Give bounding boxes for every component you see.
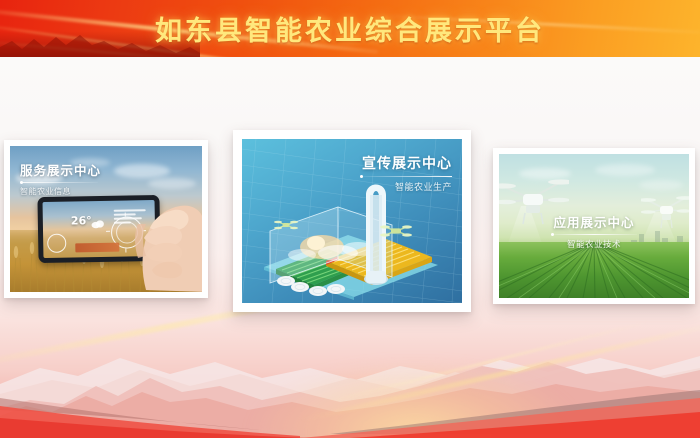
card-service-title: 服务展示中心 (20, 160, 101, 179)
card-service-display-center[interactable]: 26° (4, 140, 208, 298)
card-application-image: 应用展示中心 智能农业技术 (499, 154, 689, 298)
crop-field (499, 242, 689, 298)
poster-stage: 如东县智能农业综合展示平台 (0, 0, 700, 438)
card-promotion-label: 宣传展示中心 智能农业生产 (360, 153, 452, 193)
card-application-divider (551, 234, 637, 235)
cloud-icon (91, 219, 105, 229)
hud-temperature-value: 26° (71, 214, 92, 227)
cloud-icon (595, 164, 655, 176)
header-banner: 如东县智能农业综合展示平台 (0, 0, 700, 57)
card-service-subtitle: 智能农业信息 (20, 186, 101, 197)
page-title: 如东县智能农业综合展示平台 (0, 0, 700, 57)
card-service-divider (20, 182, 98, 183)
ribbon-right (0, 388, 700, 438)
card-application-title: 应用展示中心 (499, 212, 689, 231)
card-promotion-title: 宣传展示中心 (360, 153, 452, 173)
card-application-display-center[interactable]: 应用展示中心 智能农业技术 (493, 148, 695, 304)
card-service-image: 26° (10, 146, 202, 292)
card-promotion-subtitle: 智能农业生产 (360, 180, 452, 193)
hud-chip-bar (75, 243, 119, 253)
card-application-label: 应用展示中心 智能农业技术 (499, 212, 689, 250)
card-promotion-display-center[interactable]: 宣传展示中心 智能农业生产 (233, 130, 471, 312)
card-service-label: 服务展示中心 智能农业信息 (20, 160, 101, 197)
card-application-subtitle: 智能农业技术 (499, 238, 689, 250)
card-promotion-divider (360, 176, 452, 177)
hand-illustration (130, 172, 202, 292)
hud-ring-small (47, 234, 66, 253)
card-promotion-image: 宣传展示中心 智能农业生产 (242, 139, 462, 303)
